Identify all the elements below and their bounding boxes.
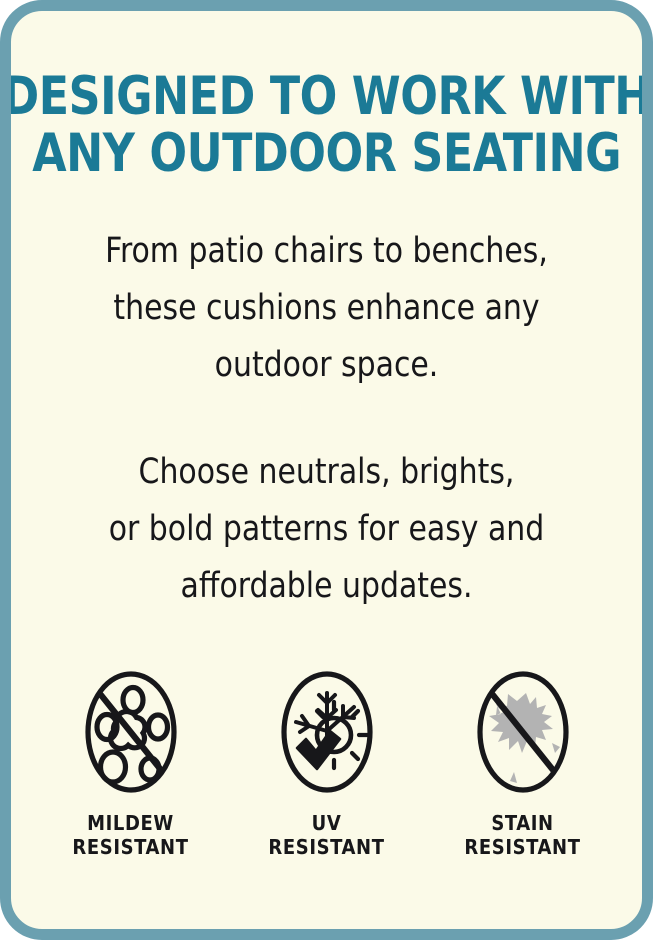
paragraph-2: Choose neutrals, brights, or bold patter… <box>70 444 582 615</box>
feature-badges: MILDEW RESISTANT <box>11 669 642 859</box>
paragraph-1: From patio chairs to benches, these cush… <box>70 223 582 394</box>
body-copy: From patio chairs to benches, these cush… <box>27 182 626 615</box>
paragraph-2-line-1: Choose neutrals, brights, <box>70 444 582 501</box>
promo-card: DESIGNED TO WORK WITH ANY OUTDOOR SEATIN… <box>0 0 653 940</box>
paragraph-1-line-1: From patio chairs to benches, <box>70 223 582 280</box>
badge-label-mildew: MILDEW RESISTANT <box>72 811 188 859</box>
badge-label-stain-line-2: RESISTANT <box>464 835 580 859</box>
headline-wrapper: DESIGNED TO WORK WITH ANY OUTDOOR SEATIN… <box>0 68 653 182</box>
page-title: DESIGNED TO WORK WITH ANY OUTDOOR SEATIN… <box>0 68 653 182</box>
badge-uv-resistant: UV RESISTANT <box>229 669 425 859</box>
snowflake-icon <box>296 693 354 737</box>
stain-resistant-icon <box>474 669 572 795</box>
badge-label-uv-line-2: RESISTANT <box>268 835 384 859</box>
headline-line-1: DESIGNED TO WORK WITH <box>2 68 651 125</box>
paragraph-2-line-3: affordable updates. <box>70 558 582 615</box>
paragraph-1-line-3: outdoor space. <box>70 337 582 394</box>
paragraph-2-line-2: or bold patterns for easy and <box>70 501 582 558</box>
mildew-resistant-icon <box>82 669 180 795</box>
badge-label-mildew-line-2: RESISTANT <box>72 835 188 859</box>
paragraph-1-line-2: these cushions enhance any <box>70 280 582 337</box>
card-inner: DESIGNED TO WORK WITH ANY OUTDOOR SEATIN… <box>11 11 642 929</box>
uv-resistant-icon <box>278 669 376 795</box>
badge-label-stain-line-1: STAIN <box>464 811 580 835</box>
badge-label-mildew-line-1: MILDEW <box>72 811 188 835</box>
badge-mildew-resistant: MILDEW RESISTANT <box>33 669 229 859</box>
badge-stain-resistant: STAIN RESISTANT <box>425 669 621 859</box>
badge-label-stain: STAIN RESISTANT <box>464 811 580 859</box>
badge-label-uv-line-1: UV <box>268 811 384 835</box>
headline-line-2: ANY OUTDOOR SEATING <box>2 125 651 182</box>
badge-label-uv: UV RESISTANT <box>268 811 384 859</box>
